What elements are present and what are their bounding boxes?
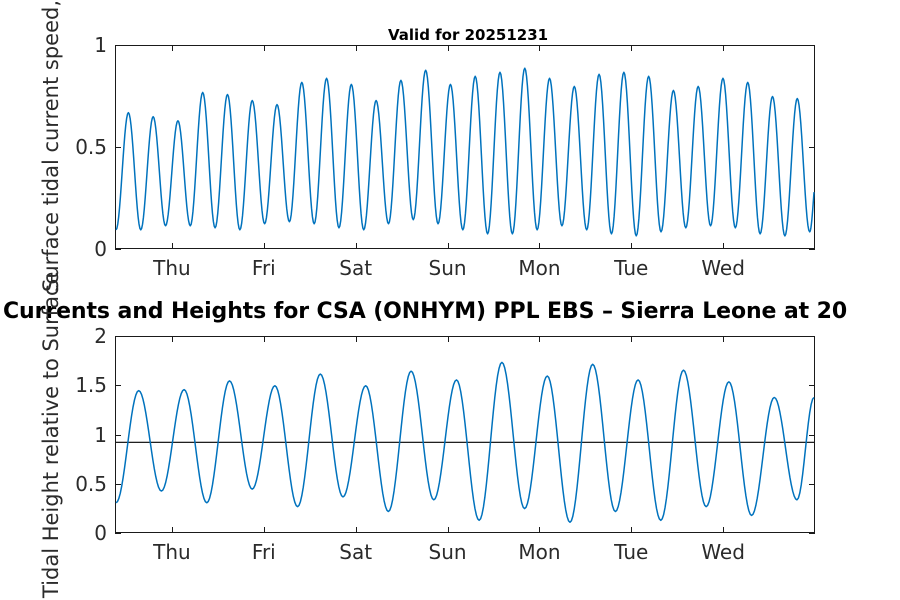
y-tick-mark-left bbox=[115, 484, 121, 485]
x-tick-mark-bottom bbox=[172, 243, 173, 249]
x-tick-label-thu: Thu bbox=[153, 542, 191, 562]
x-tick-label-fri: Fri bbox=[252, 258, 276, 278]
x-tick-label-wed: Wed bbox=[701, 258, 745, 278]
x-tick-mark-bottom bbox=[723, 527, 724, 533]
y-tick-mark-right bbox=[809, 435, 815, 436]
x-tick-mark-top bbox=[631, 336, 632, 342]
x-tick-mark-top bbox=[356, 45, 357, 51]
y-tick-mark-right bbox=[809, 385, 815, 386]
x-tick-mark-top bbox=[723, 336, 724, 342]
tidal-height-y-axis-label: Tidal Height relative to Surface bbox=[41, 272, 62, 598]
x-tick-mark-bottom bbox=[356, 243, 357, 249]
y-tick-mark-right bbox=[809, 249, 815, 250]
x-tick-label-fri: Fri bbox=[252, 542, 276, 562]
y-tick-mark-left bbox=[115, 385, 121, 386]
current-speed-curve bbox=[116, 46, 814, 248]
y-tick-mark-left bbox=[115, 147, 121, 148]
y-tick-mark-right bbox=[809, 533, 815, 534]
tidal-height-curve bbox=[116, 337, 814, 532]
x-tick-mark-top bbox=[172, 45, 173, 51]
current-speed-plot-area bbox=[115, 45, 815, 249]
x-tick-mark-top bbox=[356, 336, 357, 342]
valid-for-subtitle: Valid for 20251231 bbox=[388, 28, 548, 43]
y-tick-mark-left bbox=[115, 249, 121, 250]
y-tick-mark-left bbox=[115, 45, 121, 46]
x-tick-label-mon: Mon bbox=[518, 542, 560, 562]
x-tick-mark-top bbox=[539, 45, 540, 51]
y-tick-mark-left bbox=[115, 435, 121, 436]
x-tick-mark-bottom bbox=[631, 527, 632, 533]
x-tick-mark-bottom bbox=[539, 527, 540, 533]
tidal-forecast-figure: ThuFriSatSunMonTueWed 00.51 Valid for 20… bbox=[0, 0, 900, 600]
x-tick-label-tue: Tue bbox=[614, 542, 648, 562]
x-tick-label-sun: Sun bbox=[429, 542, 467, 562]
y-tick-mark-right bbox=[809, 147, 815, 148]
x-tick-mark-bottom bbox=[448, 527, 449, 533]
x-tick-label-sat: Sat bbox=[339, 258, 372, 278]
x-tick-mark-top bbox=[631, 45, 632, 51]
x-tick-mark-top bbox=[539, 336, 540, 342]
x-tick-mark-bottom bbox=[539, 243, 540, 249]
x-tick-mark-bottom bbox=[264, 243, 265, 249]
y-tick-mark-right bbox=[809, 45, 815, 46]
y-tick-mark-left bbox=[115, 336, 121, 337]
y-tick-mark-left bbox=[115, 533, 121, 534]
x-tick-label-thu: Thu bbox=[153, 258, 191, 278]
page-title: Currents and Heights for CSA (ONHYM) PPL… bbox=[3, 301, 847, 323]
x-tick-mark-top bbox=[723, 45, 724, 51]
tidal-height-plot-area bbox=[115, 336, 815, 533]
x-tick-mark-top bbox=[448, 336, 449, 342]
y-tick-mark-right bbox=[809, 336, 815, 337]
x-tick-mark-bottom bbox=[448, 243, 449, 249]
x-tick-label-tue: Tue bbox=[614, 258, 648, 278]
current-speed-y-axis-label: Surface tidal current speed, kn bbox=[41, 0, 62, 292]
x-tick-mark-bottom bbox=[172, 527, 173, 533]
x-tick-mark-bottom bbox=[356, 527, 357, 533]
x-tick-mark-bottom bbox=[631, 243, 632, 249]
x-tick-label-sat: Sat bbox=[339, 542, 372, 562]
data-series-tidal-current-speed bbox=[116, 68, 814, 236]
x-tick-mark-bottom bbox=[723, 243, 724, 249]
y-tick-mark-right bbox=[809, 484, 815, 485]
x-tick-label-mon: Mon bbox=[518, 258, 560, 278]
x-tick-mark-bottom bbox=[264, 527, 265, 533]
x-tick-mark-top bbox=[264, 45, 265, 51]
x-tick-mark-top bbox=[448, 45, 449, 51]
x-tick-label-wed: Wed bbox=[701, 542, 745, 562]
x-tick-mark-top bbox=[264, 336, 265, 342]
x-tick-label-sun: Sun bbox=[429, 258, 467, 278]
x-tick-mark-top bbox=[172, 336, 173, 342]
